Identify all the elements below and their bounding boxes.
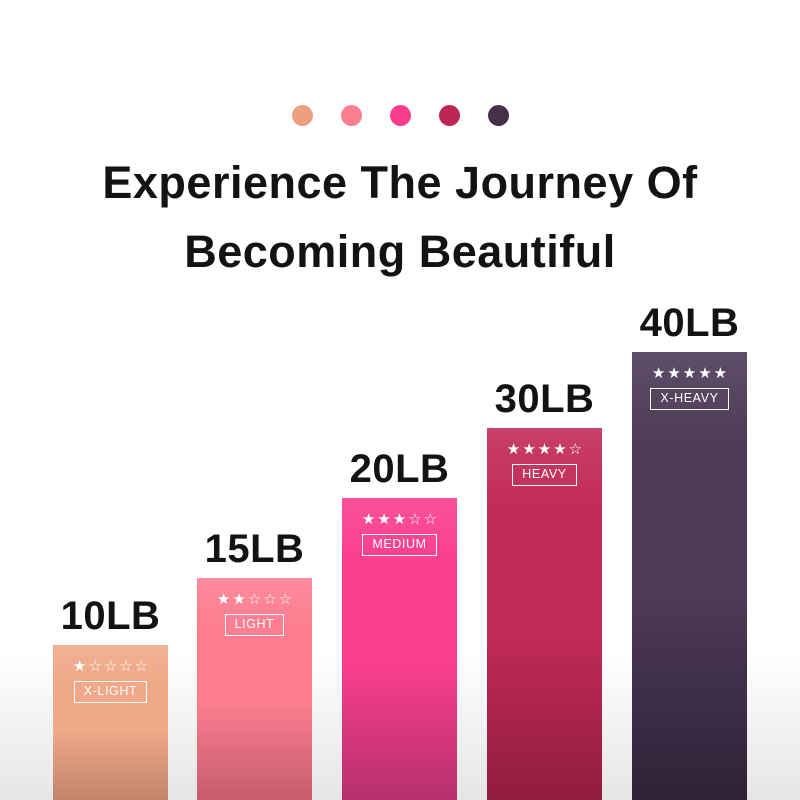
tier-label: MEDIUM [362,534,436,556]
bar-badge: ★★☆☆☆LIGHT [197,592,312,636]
star-filled-icon: ★ [232,592,245,607]
rating-stars: ★★☆☆☆ [217,592,292,607]
resistance-bar-chart: 10LB★☆☆☆☆X-LIGHT15LB★★☆☆☆LIGHT20LB★★★☆☆M… [0,0,800,800]
bar-light[interactable]: ★★☆☆☆LIGHT [197,578,312,800]
star-filled-icon: ★ [73,659,86,674]
bar-badge: ★★★★☆HEAVY [487,442,602,486]
tier-label: HEAVY [512,464,576,486]
tier-label: X-HEAVY [650,388,728,410]
star-filled-icon: ★ [553,442,566,457]
star-filled-icon: ★ [393,512,406,527]
rating-stars: ★★★☆☆ [362,512,437,527]
star-filled-icon: ★ [652,366,665,381]
star-empty-icon: ☆ [263,592,276,607]
poster-canvas: Experience The Journey Of Becoming Beaut… [0,0,800,800]
tier-label: LIGHT [225,614,285,636]
star-empty-icon: ☆ [569,442,582,457]
bar-x-light[interactable]: ★☆☆☆☆X-LIGHT [53,645,168,800]
bar-group-x-light[interactable]: 10LB★☆☆☆☆X-LIGHT [53,645,168,800]
bar-badge: ★★★☆☆MEDIUM [342,512,457,556]
bar-medium[interactable]: ★★★☆☆MEDIUM [342,498,457,800]
star-filled-icon: ★ [538,442,551,457]
star-filled-icon: ★ [683,366,696,381]
star-empty-icon: ☆ [119,659,132,674]
rating-stars: ★☆☆☆☆ [73,659,148,674]
bar-group-x-heavy[interactable]: 40LB★★★★★X-HEAVY [632,352,747,800]
star-empty-icon: ☆ [279,592,292,607]
star-filled-icon: ★ [698,366,711,381]
star-empty-icon: ☆ [408,512,421,527]
star-filled-icon: ★ [362,512,375,527]
star-filled-icon: ★ [714,366,727,381]
star-empty-icon: ☆ [135,659,148,674]
star-empty-icon: ☆ [424,512,437,527]
bar-value-label: 40LB [640,301,740,346]
bar-group-medium[interactable]: 20LB★★★☆☆MEDIUM [342,498,457,800]
tier-label: X-LIGHT [74,681,148,703]
star-empty-icon: ☆ [248,592,261,607]
rating-stars: ★★★★★ [652,366,727,381]
bar-badge: ★☆☆☆☆X-LIGHT [53,659,168,703]
bar-x-heavy[interactable]: ★★★★★X-HEAVY [632,352,747,800]
star-filled-icon: ★ [217,592,230,607]
bar-heavy[interactable]: ★★★★☆HEAVY [487,428,602,800]
bar-value-label: 30LB [495,377,595,422]
bar-value-label: 20LB [350,447,450,492]
bar-badge: ★★★★★X-HEAVY [632,366,747,410]
bar-value-label: 10LB [61,594,161,639]
star-filled-icon: ★ [507,442,520,457]
star-filled-icon: ★ [377,512,390,527]
star-empty-icon: ☆ [104,659,117,674]
star-filled-icon: ★ [522,442,535,457]
bar-group-light[interactable]: 15LB★★☆☆☆LIGHT [197,578,312,800]
star-empty-icon: ☆ [88,659,101,674]
rating-stars: ★★★★☆ [507,442,582,457]
bar-value-label: 15LB [205,527,305,572]
bar-group-heavy[interactable]: 30LB★★★★☆HEAVY [487,428,602,800]
star-filled-icon: ★ [667,366,680,381]
